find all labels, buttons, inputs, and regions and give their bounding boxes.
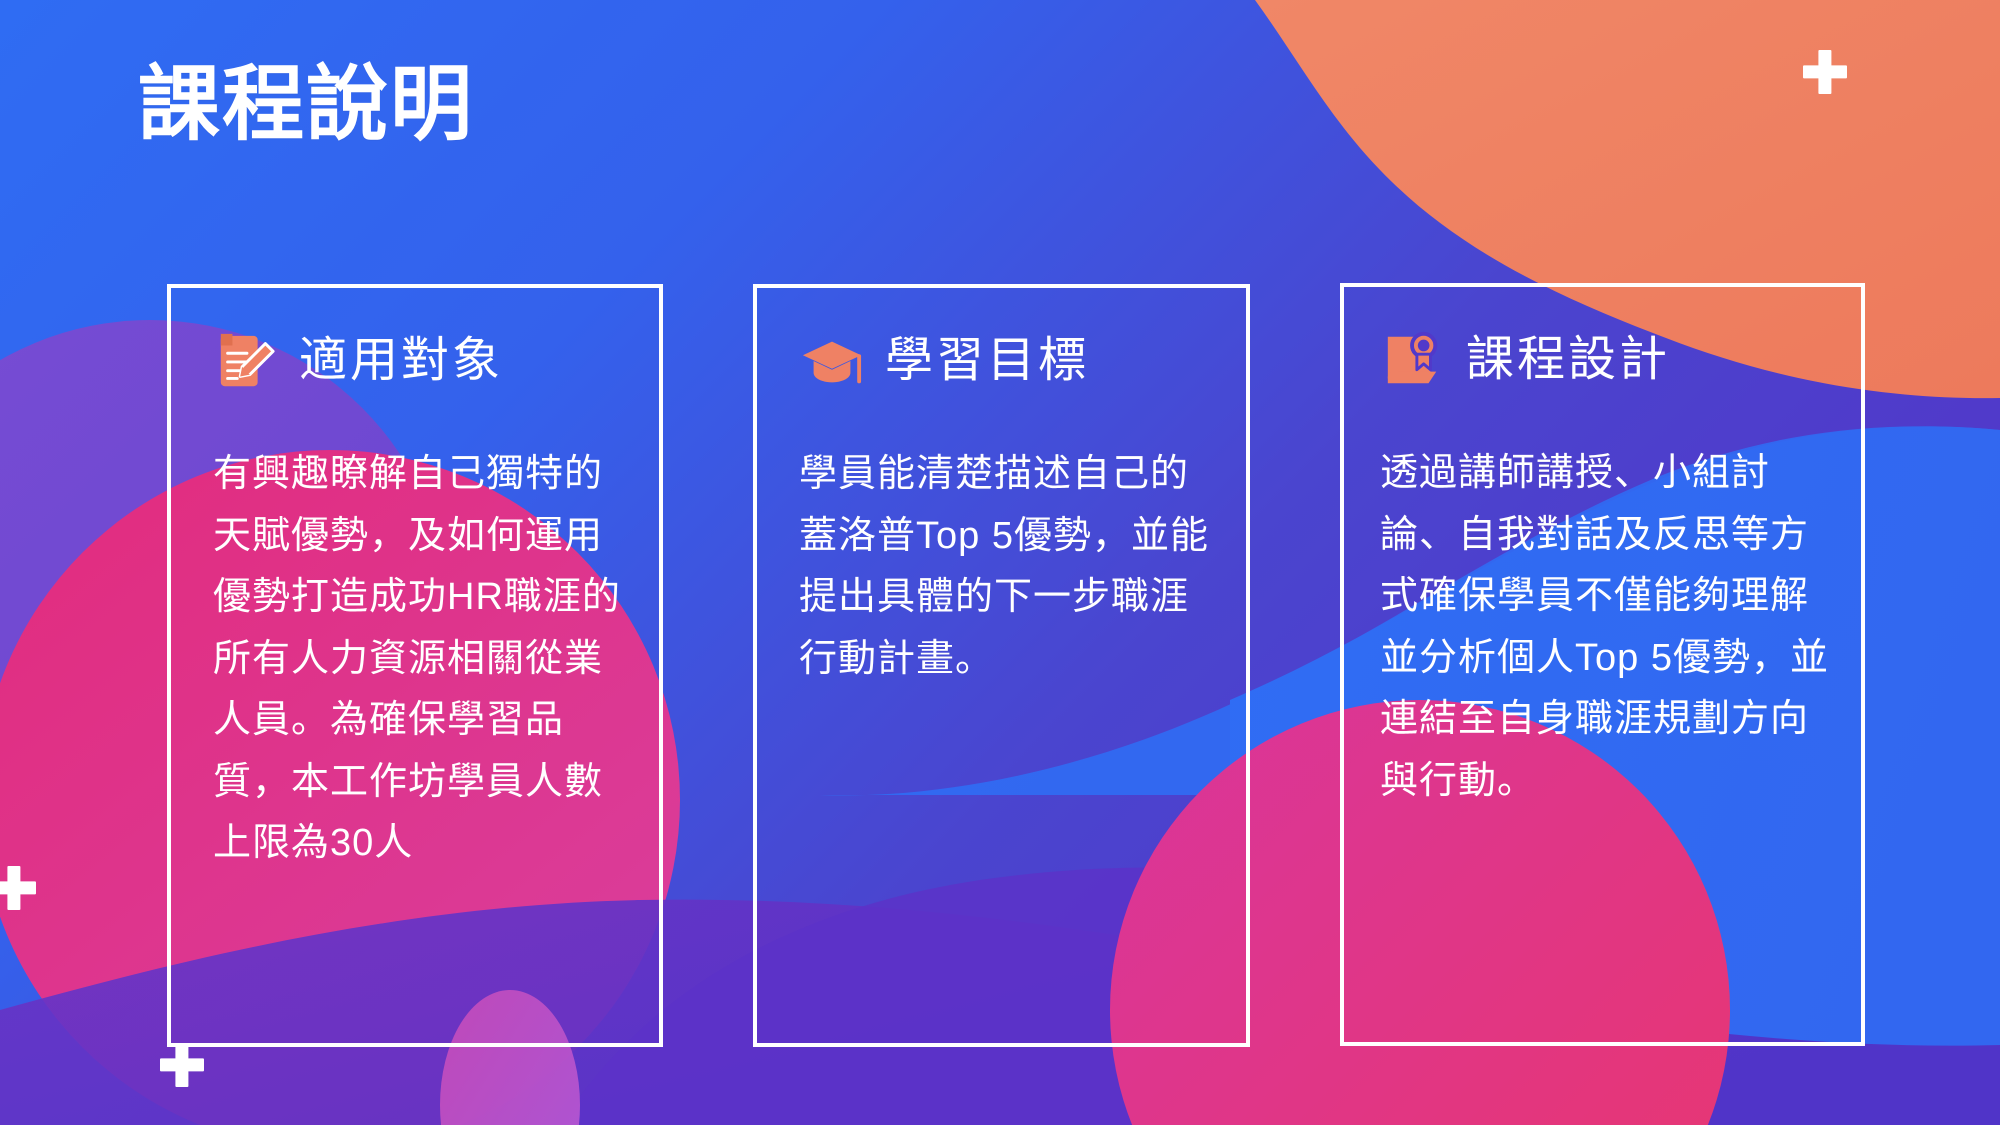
card-header: 課程設計 [1344, 287, 1861, 391]
card-header: 適用對象 [171, 288, 659, 392]
card-body-text: 有興趣瞭解自己獨特的天賦優勢，及如何運用優勢打造成功HR職涯的所有人力資源相關從… [171, 392, 659, 875]
plus-icon-bottom-left [160, 1043, 204, 1087]
plus-icon-left-edge [0, 866, 36, 910]
card-body-text: 學員能清楚描述自己的蓋洛普Top 5優勢，並能提出具體的下一步職涯行動計畫。 [757, 392, 1246, 690]
card-title: 適用對象 [299, 337, 503, 385]
card-title: 學習目標 [885, 337, 1089, 385]
plus-icon-top-right [1803, 50, 1847, 94]
card-header: 學習目標 [757, 288, 1246, 392]
info-card-design: 課程設計 透過講師講授、小組討論、自我對話及反思等方式確保學員不僅能夠理解並分析… [1340, 283, 1865, 1046]
info-card-audience: 適用對象 有興趣瞭解自己獨特的天賦優勢，及如何運用優勢打造成功HR職涯的所有人力… [167, 284, 663, 1047]
certificate-book-icon [1382, 329, 1444, 391]
document-pencil-icon [215, 330, 277, 392]
info-card-objectives: 學習目標 學員能清楚描述自己的蓋洛普Top 5優勢，並能提出具體的下一步職涯行動… [753, 284, 1250, 1047]
card-body-text: 透過講師講授、小組討論、自我對話及反思等方式確保學員不僅能夠理解並分析個人Top… [1344, 391, 1861, 812]
page-title: 課程說明 [138, 62, 474, 148]
card-title: 課程設計 [1466, 336, 1670, 384]
slide-canvas: 課程說明 適用對象 有興趣瞭解自己獨特的天賦優勢，及如何運用優勢打造成功HR職涯… [0, 0, 2000, 1125]
graduation-cap-icon [801, 330, 863, 392]
